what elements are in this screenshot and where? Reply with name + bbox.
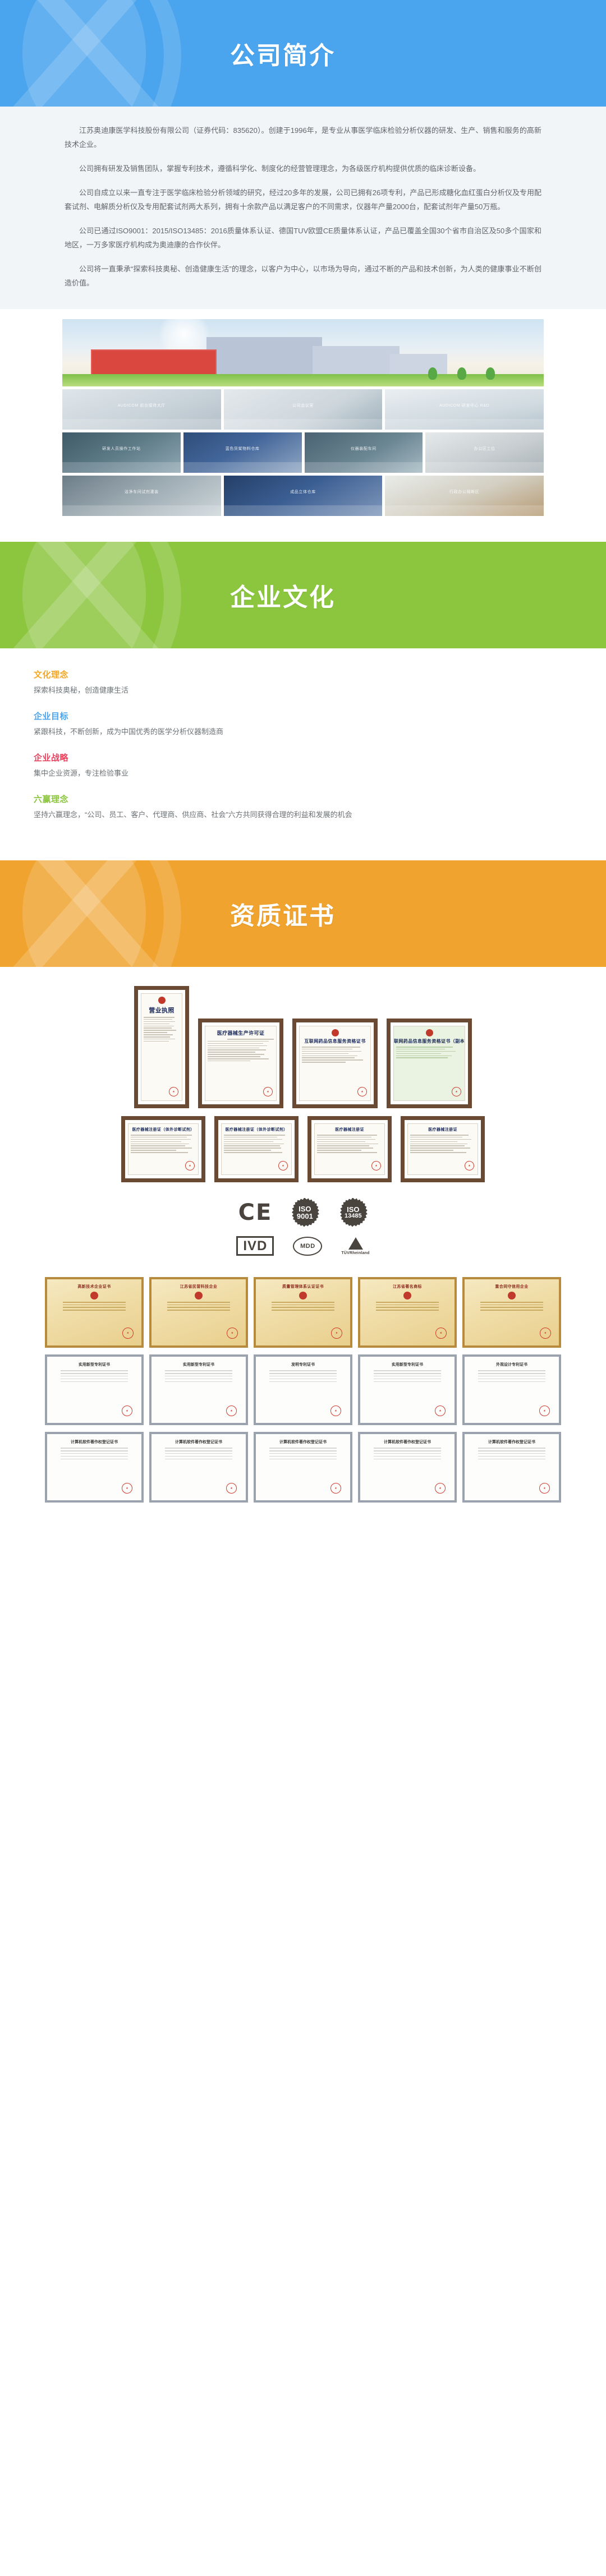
iso-label-top: ISO [299,1205,311,1213]
photo-row-2: 研发人员操作工作站 蓝色货架物料仓库 仪器装配车间 办公区工位 [62,432,544,473]
patent-certificate: 实用新型专利证书 ★ [358,1354,457,1425]
intro-paragraph-1: 江苏奥迪康医学科技股份有限公司（证券代码：835620）。创建于1996年，是专… [65,123,541,151]
section-spacer [0,844,606,860]
patent-certificate: 外观设计专利证书 ★ [462,1354,561,1425]
building-block [206,337,322,379]
photo-thumbnail: 办公区工位 [425,432,544,473]
photo-row-1: AUDICOM 前台接待大厅 公司会议室 AUDICOM 研发中心 R&D [62,389,544,430]
patent-title: 实用新型专利证书 [392,1362,423,1367]
photo-caption: 仪器装配车间 [351,446,377,451]
national-emblem-icon [508,1292,516,1299]
photo-band [224,505,383,516]
tree-icon [486,367,495,380]
official-seal-icon: ★ [434,1482,446,1494]
iso-9001-badge-icon: ISO 9001 [290,1198,319,1227]
photo-caption: AUDICOM 研发中心 R&D [439,403,489,408]
official-seal-icon: ★ [539,1405,550,1417]
culture-item-title: 企业战略 [34,752,572,763]
software-copyright-certificate: 计算机软件著作权登记证书 ★ [358,1432,457,1503]
official-seal-icon: ★ [226,1482,237,1494]
patent-title: 外观设计专利证书 [496,1362,527,1367]
official-seal-icon: ★ [226,1327,238,1340]
culture-item-desc: 坚持六赢理念，“公司、员工、客户、代理商、供应商、社会”六方共同获得合理的利益和… [34,809,426,821]
certificate-item: 医疗器械注册证（体外诊断试剂） ★ [121,1116,205,1182]
photo-thumbnail: 洁净车间试剂灌装 [62,476,221,516]
company-banner-title: 公司简介 [0,0,606,107]
award-title: 高新技术企业证书 [77,1284,111,1289]
certification-marks-row-2: IVD MDD TÜVRheinland [0,1236,606,1256]
tree-icon [428,367,437,380]
national-emblem-icon [332,1029,339,1036]
award-certificate: 质量管理体系认证证书 ★ [254,1277,352,1348]
official-seal-icon: ★ [330,1405,342,1417]
official-seal-icon: ★ [330,1482,342,1494]
photo-band [62,462,181,473]
software-copyright-title: 计算机软件著作权登记证书 [384,1439,431,1445]
award-certificate: 重合同守信用企业 ★ [462,1277,561,1348]
certification-marks-row-1: C E ISO 9001 ISO 13485 [0,1198,606,1227]
certificate-item: 医疗器械注册证 ★ [401,1116,485,1182]
iso-label-number: 13485 [345,1213,362,1219]
building-block-red [91,349,216,376]
photo-thumbnail: AUDICOM 前台接待大厅 [62,389,221,430]
intro-paragraph-5: 公司将一直秉承“探索科技奥秘、创造健康生活”的理念，以客户为中心，以市场为导向，… [65,262,541,290]
photo-thumbnail: 成品立体仓库 [224,476,383,516]
certificate-lines [208,1039,274,1063]
patent-certificate: 实用新型专利证书 ★ [45,1354,144,1425]
culture-item-sixwin: 六赢理念 坚持六赢理念，“公司、员工、客户、代理商、供应商、社会”六方共同获得合… [34,793,572,821]
photo-band [224,419,383,430]
photo-caption: AUDICOM 前台接待大厅 [118,403,166,408]
national-emblem-icon [299,1292,307,1299]
software-copyright-certificate: 计算机软件著作权登记证书 ★ [254,1432,352,1503]
certificate-row-2: 医疗器械注册证（体外诊断试剂） ★ 医疗器械注册证（体外诊断试剂） [39,1116,567,1182]
official-seal-icon: ★ [434,1405,446,1417]
photo-thumbnail: 仪器装配车间 [305,432,423,473]
photo-caption: 公司会议室 [292,403,314,408]
culture-item-desc: 紧跟科技，不断创新，成为中国优秀的医学分析仪器制造商 [34,726,426,738]
official-seal-icon: ★ [434,1327,447,1340]
company-photo-gallery: AUDICOM 前台接待大厅 公司会议室 AUDICOM 研发中心 R&D 研发… [0,309,606,516]
national-emblem-icon [195,1292,203,1299]
official-seal-icon: ★ [226,1405,237,1417]
culture-item-title: 企业目标 [34,710,572,722]
tuv-label: TÜVRheinland [341,1251,369,1255]
certificate-title: 医疗器械注册证（体外诊断试剂） [226,1127,288,1132]
culture-item-desc: 探索科技奥秘，创造健康生活 [34,684,426,697]
photo-caption: 成品立体仓库 [290,489,316,495]
certificate-lines [317,1135,382,1154]
culture-item-desc: 集中企业资源，专注检验事业 [34,767,426,780]
culture-item-title: 文化理念 [34,669,572,680]
culture-banner: 企业文化 [0,542,606,648]
tree-icon [457,367,466,380]
photo-thumbnail: AUDICOM 研发中心 R&D [385,389,544,430]
lawn-strip [62,374,544,386]
mdd-mark-icon: MDD [293,1237,322,1256]
software-copyright-title: 计算机软件著作权登记证书 [488,1439,535,1445]
tuv-triangle-icon [348,1237,363,1250]
certificate-lines [131,1135,196,1154]
certificate-title: 互联网药品信息服务资格证书 [304,1038,365,1044]
certificates-banner: 资质证书 [0,860,606,967]
national-emblem-icon [403,1292,411,1299]
patent-title: 实用新型专利证书 [183,1362,214,1367]
certificate-lines [144,1017,180,1043]
intro-paragraph-4: 公司已通过ISO9001：2015/ISO13485：2016质量体系认证、德国… [65,224,541,252]
patent-certificate: 发明专利证书 ★ [254,1354,352,1425]
photo-band [305,462,423,473]
official-seal-icon: ★ [121,1327,134,1340]
certificate-title: 医疗器械注册证（体外诊断试剂） [132,1127,195,1132]
photo-band [62,505,221,516]
company-intro-block: 江苏奥迪康医学科技股份有限公司（证券代码：835620）。创建于1996年，是专… [0,107,606,309]
award-row-patents-2: 计算机软件著作权登记证书 ★ 计算机软件著作权登记证书 ★ 计算机软件著作权登记… [39,1432,567,1503]
photo-row-3: 洁净车间试剂灌装 成品立体仓库 行政办公隔断区 [62,476,544,516]
photo-thumbnail: 公司会议室 [224,389,383,430]
section-spacer [0,516,606,542]
ce-letter-e: E [256,1201,271,1224]
photo-thumbnail: 行政办公隔断区 [385,476,544,516]
award-certificate: 江苏省民营科技企业 ★ [149,1277,248,1348]
certificate-item: 医疗器械生产许可证 ★ [198,1019,283,1108]
culture-item-title: 六赢理念 [34,793,572,805]
certificate-item: 互联网药品信息服务资格证书 ★ [292,1019,378,1108]
certificates-gallery: 营业执照 ★ 医疗器械生产许可证 [0,967,606,1532]
certificate-lines [224,1135,289,1154]
software-copyright-certificate: 计算机软件著作权登记证书 ★ [45,1432,144,1503]
headquarters-photo [62,319,544,386]
award-title: 江苏省著名商标 [393,1284,422,1289]
award-title: 质量管理体系认证证书 [282,1284,324,1289]
certificate-lines [410,1135,475,1154]
patent-certificate: 实用新型专利证书 ★ [149,1354,248,1425]
certificate-inner: 营业执照 [141,993,182,1101]
national-emblem-icon [158,997,166,1004]
photo-caption: 蓝色货架物料仓库 [226,446,260,451]
patent-title: 实用新型专利证书 [79,1362,110,1367]
award-title: 江苏省民营科技企业 [180,1284,218,1289]
section-spacer [0,1267,606,1277]
photo-caption: 洁净车间试剂灌装 [125,489,159,495]
culture-item-goal: 企业目标 紧跟科技，不断创新，成为中国优秀的医学分析仪器制造商 [34,710,572,738]
photo-band [62,419,221,430]
award-certificate: 江苏省著名商标 ★ [358,1277,457,1348]
official-seal-icon: ★ [330,1327,343,1340]
photo-caption: 行政办公隔断区 [449,489,479,495]
photo-thumbnail: 研发人员操作工作站 [62,432,181,473]
photo-caption: 研发人员操作工作站 [102,446,140,451]
certificate-title: 医疗器械注册证 [428,1127,457,1132]
official-seal-icon: ★ [121,1405,133,1417]
certificate-lines [396,1047,462,1059]
award-row-patents-1: 实用新型专利证书 ★ 实用新型专利证书 ★ 发明专利证书 ★ 实用新型专利证书 … [39,1354,567,1425]
certificate-title: 医疗器械生产许可证 [217,1029,265,1036]
photo-thumbnail: 蓝色货架物料仓库 [183,432,302,473]
certificate-title: 营业执照 [149,1006,175,1015]
certificate-item: 互联网药品信息服务资格证书（副本） ★ [387,1019,472,1108]
award-certificate: 高新技术企业证书 ★ [45,1277,144,1348]
intro-paragraph-3: 公司自成立以来一直专注于医学临床检验分析领域的研究，经过20多年的发展，公司已拥… [65,186,541,214]
software-copyright-title: 计算机软件著作权登记证书 [175,1439,222,1445]
national-emblem-icon [426,1029,433,1036]
certificate-title: 医疗器械注册证 [335,1127,364,1132]
company-banner: 公司简介 [0,0,606,107]
photo-band [385,505,544,516]
tuv-rheinland-mark-icon: TÜVRheinland [341,1237,369,1255]
photo-band [385,419,544,430]
certificate-title: 互联网药品信息服务资格证书（副本） [393,1038,465,1044]
intro-paragraph-2: 公司拥有研发及销售团队，掌握专利技术，遵循科学化、制度化的经营管理理念，为各级医… [65,162,541,176]
culture-item-ideal: 文化理念 探索科技奥秘，创造健康生活 [34,669,572,697]
software-copyright-certificate: 计算机软件著作权登记证书 ★ [462,1432,561,1503]
photo-band [425,462,544,473]
culture-banner-title: 企业文化 [0,542,606,648]
certificate-row-1: 营业执照 ★ 医疗器械生产许可证 [39,986,567,1108]
iso-label-top: ISO [347,1206,359,1213]
national-emblem-icon [90,1292,98,1299]
ce-mark-icon: C E [238,1201,272,1224]
software-copyright-certificate: 计算机软件著作权登记证书 ★ [149,1432,248,1503]
certificate-lines [302,1047,368,1064]
iso-label-number: 9001 [297,1213,313,1220]
certificate-item: 医疗器械注册证 ★ [307,1116,392,1182]
culture-item-strategy: 企业战略 集中企业资源，专注检验事业 [34,752,572,780]
certificate-item: 医疗器械注册证（体外诊断试剂） ★ [214,1116,299,1182]
certificates-banner-title: 资质证书 [0,860,606,967]
official-seal-icon: ★ [539,1327,552,1340]
certificate-item: 营业执照 ★ [134,986,189,1108]
certification-marks: C E ISO 9001 ISO 13485 IVD MDD TÜVRheinl… [0,1190,606,1267]
photo-band [183,462,302,473]
iso-13485-badge-icon: ISO 13485 [338,1198,368,1227]
official-seal-icon: ★ [121,1482,133,1494]
photo-caption: 办公区工位 [474,446,495,451]
culture-list: 文化理念 探索科技奥秘，创造健康生活 企业目标 紧跟科技，不断创新，成为中国优秀… [0,648,606,844]
software-copyright-title: 计算机软件著作权登记证书 [279,1439,327,1445]
ce-letter-c: C [238,1201,255,1224]
award-title: 重合同守信用企业 [495,1284,528,1289]
patent-title: 发明专利证书 [291,1362,315,1367]
software-copyright-title: 计算机软件著作权登记证书 [71,1439,118,1445]
official-seal-icon: ★ [539,1482,550,1494]
ivd-mark-icon: IVD [236,1236,274,1256]
award-row-gold: 高新技术企业证书 ★ 江苏省民营科技企业 ★ 质量管理体系认证证书 ★ 江苏省著… [39,1277,567,1348]
